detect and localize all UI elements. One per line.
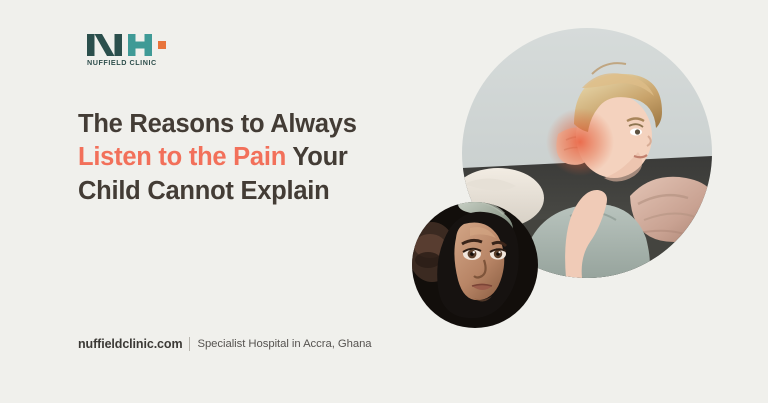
headline-accent-phrase: Listen to the Pain [78,143,286,171]
website-url[interactable]: nuffieldclinic.com [78,337,182,351]
brand-logo[interactable]: NUFFIELD CLINIC [87,34,207,66]
girl-looking-up-photo [412,202,538,328]
footer-bar: nuffieldclinic.com Specialist Hospital i… [78,337,372,351]
footer-tagline: Specialist Hospital in Accra, Ghana [197,338,371,350]
girl-looking-up-illustration [412,202,538,328]
logo-wordmark: NUFFIELD CLINIC [87,59,207,66]
headline-line-1: The Reasons to Always [78,110,357,138]
page-title: The Reasons to Always Listen to the Pain… [78,108,408,208]
headline-line-3: Child Cannot Explain [78,177,329,205]
footer-divider [189,337,190,351]
headline-line-2-rest: Your [286,143,348,171]
nuffield-n-plus-mark [87,34,211,56]
promo-banner: NUFFIELD CLINIC The Reasons to Always Li… [0,0,768,403]
